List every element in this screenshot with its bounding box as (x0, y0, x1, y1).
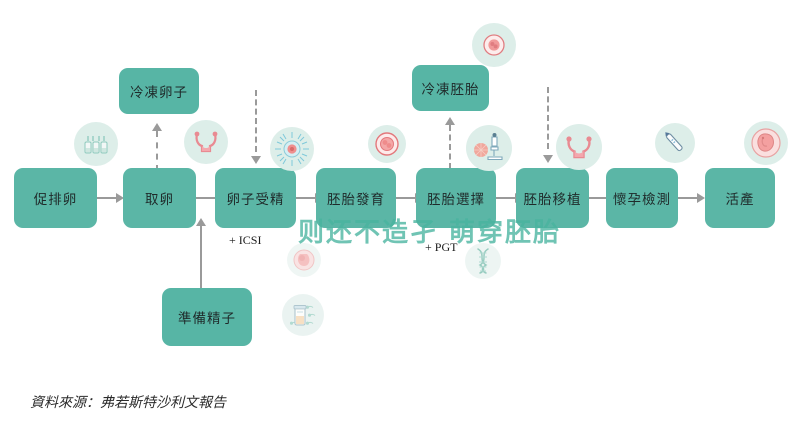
pregnancy-test-icon (655, 123, 695, 163)
arrow-sperm-to-fertilization (194, 218, 208, 298)
fertilization-icon (270, 127, 314, 171)
source-note: 資料來源：弗若斯特沙利文報告 (30, 392, 226, 412)
step-box-egg-retrieval[interactable]: 取卵 (123, 168, 196, 228)
step-label: 活產 (726, 188, 755, 208)
step-box-ovarian-stimulation[interactable]: 促排卵 (14, 168, 97, 228)
microscope-icon (466, 125, 512, 171)
branch-label: 冷凍卵子 (130, 81, 188, 101)
arrow-down-to-transfer (541, 145, 555, 163)
embryo-icon (368, 125, 406, 163)
annotation-icsi: + ICSI (229, 233, 261, 248)
step-box-fertilization[interactable]: 卵子受精 (215, 168, 296, 228)
dash-frozen-embryo-down (541, 87, 555, 149)
fetus-icon (744, 121, 788, 165)
step-label: 懷孕檢測 (613, 188, 671, 208)
vials-icon (74, 122, 118, 166)
dna-helix-icon (465, 243, 501, 279)
step-label: 促排卵 (34, 188, 78, 208)
blastocyst-icon (287, 243, 321, 277)
branch-label: 冷凍胚胎 (422, 78, 480, 98)
step-label: 卵子受精 (227, 188, 285, 208)
branch-box-frozen-eggs[interactable]: 冷凍卵子 (119, 68, 199, 114)
step-box-embryo-transfer[interactable]: 胚胎移植 (516, 168, 589, 228)
dash-frozen-embryo-right (489, 87, 549, 97)
branch-box-frozen-embryo[interactable]: 冷凍胚胎 (412, 65, 489, 111)
step-box-embryo-selection[interactable]: 胚胎選擇 (416, 168, 496, 228)
branch-label: 準備精子 (178, 307, 236, 327)
step-label: 胚胎發育 (327, 188, 385, 208)
step-label: 胚胎選擇 (427, 188, 485, 208)
arrow-down-to-fertilization (249, 146, 263, 164)
arrow-step7-step8 (678, 192, 705, 204)
sperm-sample-icon (282, 294, 324, 336)
dash-frozen-eggs-down (249, 90, 263, 152)
dash-up-to-frozen-embryo (443, 125, 457, 169)
step-label: 取卵 (145, 188, 174, 208)
annotation-pgt: + PGT (425, 240, 457, 255)
step-box-embryo-development[interactable]: 胚胎發育 (316, 168, 396, 228)
dash-up-to-frozen-eggs (150, 131, 164, 171)
frozen-embryo-icon (472, 23, 516, 67)
diagram-canvas: 促排卵 取卵 卵子受精 胚胎發育 胚胎選擇 胚胎移植 懷孕檢測 活產 冷凍卵子 … (0, 0, 807, 426)
uterus-icon (184, 120, 228, 164)
arrow-step1-step2 (97, 192, 124, 204)
step-box-live-birth[interactable]: 活產 (705, 168, 775, 228)
step-box-pregnancy-test[interactable]: 懷孕檢測 (606, 168, 678, 228)
uterus-transfer-icon (556, 124, 602, 170)
step-label: 胚胎移植 (524, 188, 582, 208)
branch-box-prepare-sperm[interactable]: 準備精子 (162, 288, 252, 346)
